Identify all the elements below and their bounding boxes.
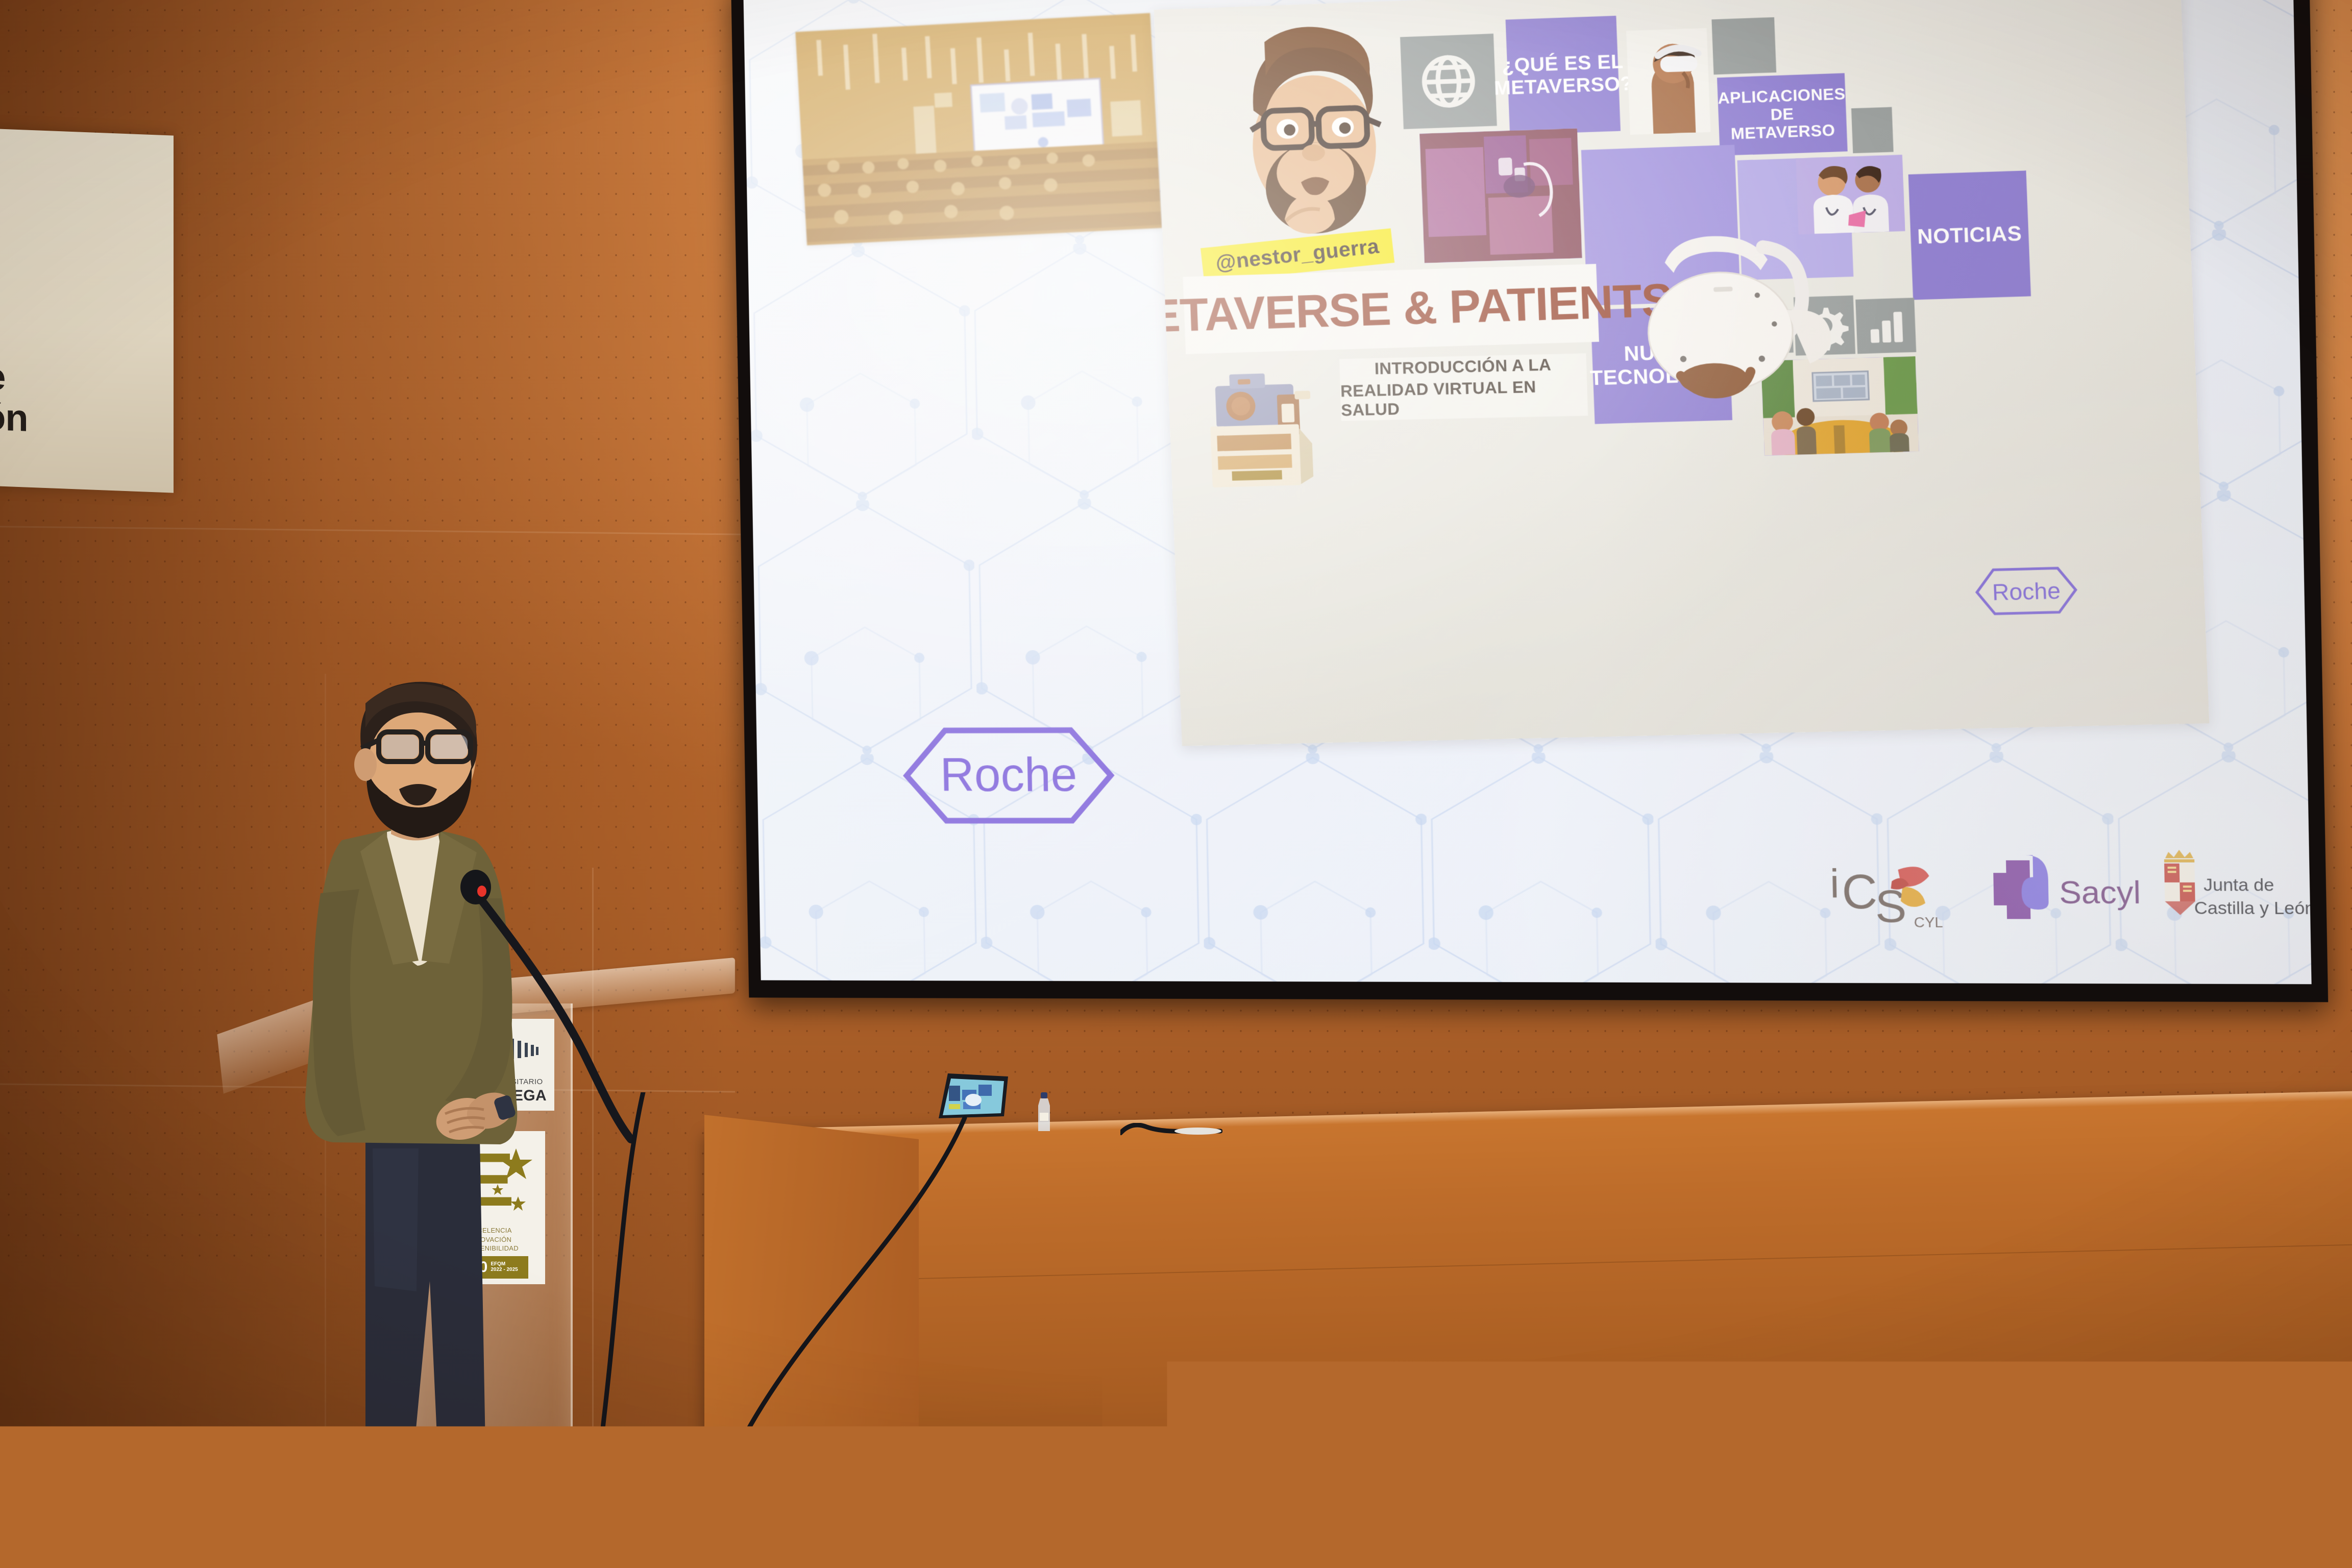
ics-logo: i C S CYL [1827, 854, 1962, 935]
slide-tile-bar-chart-icon [1855, 298, 1916, 354]
slide-tile-grey-small-a [1711, 17, 1776, 75]
wall-banner: de eón [0, 128, 174, 493]
slide-subtitle-plate: INTRODUCCIÓN A LA REALIDAD VIRTUAL EN SA… [1339, 353, 1588, 421]
slide-tile-noticias: NOTICIAS [1908, 170, 2031, 300]
slide-subtitle-line-1: INTRODUCCIÓN A LA [1374, 355, 1551, 378]
auditorium-photo [795, 13, 1162, 246]
roche-watermark-logo: Roche [900, 724, 1118, 827]
laptop [932, 1069, 1008, 1123]
svg-text:Junta de: Junta de [2203, 875, 2274, 895]
slide-tile-globe [1400, 34, 1497, 129]
slide-title: METAVERSE & PATIENTS [1154, 274, 1674, 344]
slide-tile-vr-user-photo [1626, 28, 1710, 135]
slide-tile-que-es-el-metaverso: ¿QUÉ ES EL METAVERSO? [1506, 16, 1621, 135]
svg-text:i: i [1829, 861, 1840, 906]
slide-tile-grey-small-b [1851, 107, 1894, 154]
svg-text:C: C [1842, 866, 1878, 919]
slide-tile-label: ¿QUÉ ES EL METAVERSO? [1506, 16, 1621, 135]
water-bottle [1034, 1092, 1054, 1133]
wall-banner-line-2: eón [0, 396, 174, 444]
slide-roche-logo: Roche [1972, 563, 2081, 619]
vintage-camera-illustration [1199, 365, 1324, 498]
vr-headset-illustration [1612, 209, 1854, 424]
svg-text:Castilla y León: Castilla y León [2194, 898, 2311, 918]
institution-logo-row: i C S CYL Sacyl [1827, 839, 2311, 955]
slide-subtitle-line-2: REALIDAD VIRTUAL EN SALUD [1340, 376, 1588, 420]
photo-scene: de eón [0, 0, 2352, 1568]
speaker-presenter [265, 679, 592, 1567]
slide-tile-label: NOTICIAS [1908, 170, 2031, 300]
svg-text:Sacyl: Sacyl [2059, 874, 2141, 911]
projection-screen-surface: ¿QUÉ ES EL METAVERSO? APLICAC [743, 0, 2311, 984]
table-seam [704, 1243, 2352, 1284]
floor-reflection [664, 1450, 1991, 1567]
projection-screen-frame: ¿QUÉ ES EL METAVERSO? APLICAC [731, 0, 2328, 1002]
svg-text:Roche: Roche [1992, 578, 2061, 606]
table-microphone [1120, 1123, 1222, 1135]
roche-watermark-text: Roche [940, 749, 1077, 801]
memoji-avatar [1216, 14, 1413, 263]
slide-tile-label: APLICACIONES DE METAVERSO [1717, 73, 1848, 156]
svg-text:CYL: CYL [1914, 914, 1943, 930]
slide-tile-aplicaciones-de-metaverso: APLICACIONES DE METAVERSO [1717, 73, 1848, 156]
presentation-slide: ¿QUÉ ES EL METAVERSO? APLICAC [1154, 0, 2210, 746]
junta-logo: Junta de Castilla y León [2149, 844, 2312, 941]
sacyl-logo: Sacyl [1988, 848, 2145, 935]
slide-tile-vr-photo-left [1419, 128, 1582, 263]
slide-title-plate: METAVERSE & PATIENTS [1183, 264, 1599, 354]
